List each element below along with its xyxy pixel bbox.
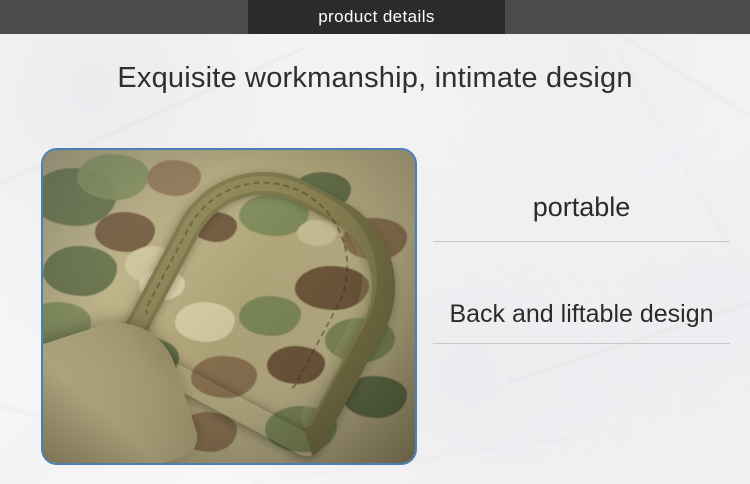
header-stripe-left: [0, 0, 248, 34]
camo-patch: [43, 246, 117, 296]
camo-patch: [175, 302, 235, 342]
page-title: product details: [318, 7, 435, 27]
product-details-page: product details Exquisite workmanship, i…: [0, 0, 750, 484]
camo-patch: [297, 220, 337, 246]
feature-label-back-liftable: Back and liftable design: [433, 300, 730, 329]
camo-patch: [293, 172, 351, 210]
header-title-block: product details: [248, 0, 505, 34]
camo-patch: [295, 266, 369, 310]
camo-patch: [77, 154, 149, 200]
camo-patch: [139, 270, 185, 300]
product-photo: [41, 148, 417, 465]
camo-patch: [267, 346, 325, 384]
camo-patch: [343, 218, 407, 260]
camo-patch: [191, 356, 257, 398]
photo-background: [43, 150, 415, 463]
camo-patch: [193, 212, 237, 242]
camo-patch: [265, 406, 337, 452]
camo-patch: [239, 296, 301, 336]
header-stripe-right: [505, 0, 750, 34]
feature-label-portable: portable: [433, 192, 730, 223]
camo-patch: [325, 318, 395, 362]
marble-vein: [508, 279, 750, 382]
feature-divider-2: [433, 343, 730, 344]
headline: Exquisite workmanship, intimate design: [0, 62, 750, 95]
header-bar: product details: [0, 0, 750, 34]
camo-patch: [343, 376, 407, 418]
feature-divider-1: [433, 241, 730, 242]
camo-patch: [147, 160, 201, 196]
